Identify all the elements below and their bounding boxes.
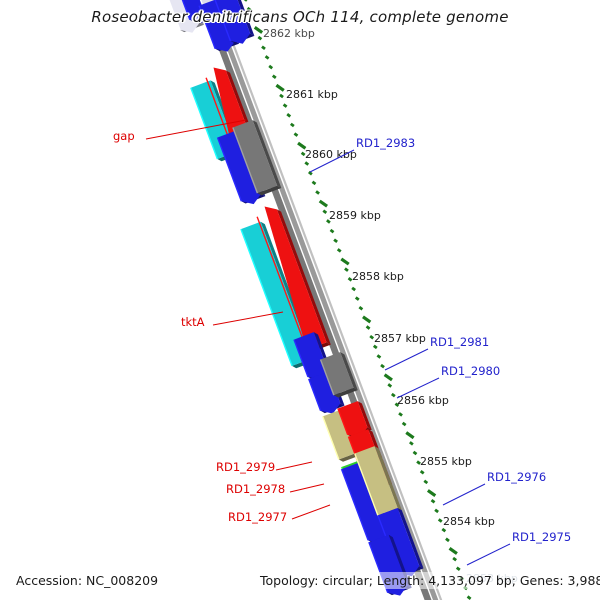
gene-label-rd1_2976[interactable]: RD1_2976 [487,470,546,484]
genome-map-viewer[interactable]: 2862 kbp2861 kbp2860 kbp2859 kbp2858 kbp… [0,0,600,600]
gene-label-gap[interactable]: gap [113,129,135,143]
gene-label-rd1_2981[interactable]: RD1_2981 [430,335,489,349]
page-title: Roseobacter denitrificans OCh 114, compl… [0,8,600,26]
status-bar: Accession: NC_008209 Topology: circular;… [0,572,600,592]
gene-label-rd1_2975[interactable]: RD1_2975 [512,530,571,544]
gene-label-rd1_2978[interactable]: RD1_2978 [226,482,285,496]
gene-label-tkta[interactable]: tktA [181,315,205,329]
gene-label-rd1_2983[interactable]: RD1_2983 [356,136,415,150]
gene-label-rd1_2977[interactable]: RD1_2977 [228,510,287,524]
status-accession: Accession: NC_008209 [14,572,160,589]
status-summary: Topology: circular; Length: 4,133,097 bp… [258,572,600,589]
feature-leader-lines [0,0,600,600]
gene-label-rd1_2980[interactable]: RD1_2980 [441,364,500,378]
gene-label-rd1_2979[interactable]: RD1_2979 [216,460,275,474]
